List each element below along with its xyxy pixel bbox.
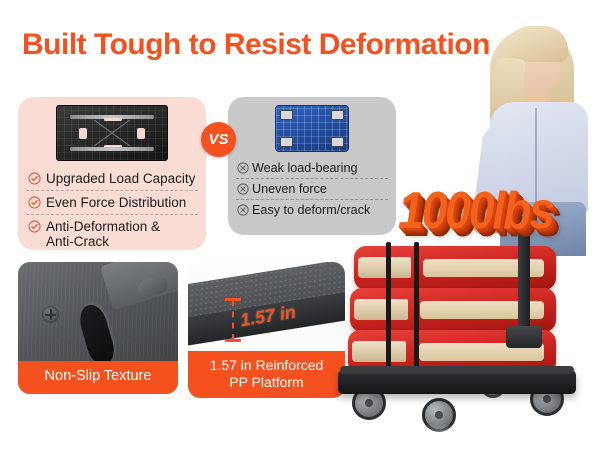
feature-item: Upgraded Load Capacity: [26, 167, 198, 190]
feature-label: Uneven force: [252, 182, 327, 196]
check-circle-icon: [28, 220, 41, 233]
capacity-callout: 1000lbs: [398, 180, 553, 240]
good-feature-list: Upgraded Load Capacity Even Force Distri…: [18, 161, 206, 250]
blue-pallet-icon: [275, 105, 349, 152]
x-circle-icon: [237, 162, 250, 175]
screw-icon: [42, 306, 59, 323]
feature-label: Upgraded Load Capacity: [46, 171, 195, 186]
feature-card-platform: 1.57 in 1.57 in Reinforced PP Platform: [188, 262, 345, 398]
feature-label: Easy to deform/crack: [252, 203, 370, 217]
cart-scene: [330, 222, 600, 450]
x-circle-icon: [237, 204, 250, 217]
feature-item: Even Force Distribution: [26, 190, 198, 214]
cargo-strap: [386, 242, 391, 382]
model-hair-front: [506, 26, 568, 62]
bad-feature-list: Weak load-bearing Uneven force Easy to d…: [228, 152, 396, 224]
cargo-strap: [414, 242, 419, 382]
feature-item: Anti-Deformation & Anti-Crack: [26, 214, 198, 250]
dimension-line: [232, 300, 234, 340]
bad-pallet-image: [228, 97, 396, 152]
black-pallet-icon: [56, 105, 168, 161]
promo-image-root: Built Tough to Resist Deformation: [0, 0, 600, 450]
check-circle-icon: [28, 172, 41, 185]
dimension-cap-bottom: [225, 339, 241, 342]
handle-mount: [506, 326, 542, 348]
cart-deck-lip: [340, 366, 574, 374]
feature-item: Uneven force: [236, 178, 388, 199]
feature-item: Weak load-bearing: [236, 158, 388, 178]
check-circle-icon: [28, 196, 41, 209]
feature-label: Anti-Deformation & Anti-Crack: [46, 219, 160, 249]
good-pallet-image: [18, 97, 206, 161]
feature-card-non-slip: Non-Slip Texture: [18, 262, 178, 394]
card-caption: 1.57 in Reinforced PP Platform: [188, 351, 345, 398]
feature-item: Easy to deform/crack: [236, 199, 388, 220]
page-title: Built Tough to Resist Deformation: [22, 28, 490, 62]
comparison-panel-good: Upgraded Load Capacity Even Force Distri…: [18, 97, 206, 250]
vs-badge: VS: [201, 122, 236, 157]
x-circle-icon: [237, 183, 250, 196]
feature-label: Weak load-bearing: [252, 161, 357, 175]
comparison-panel-bad: Weak load-bearing Uneven force Easy to d…: [228, 97, 396, 235]
feature-label: Even Force Distribution: [46, 195, 186, 210]
card-caption: Non-Slip Texture: [18, 361, 178, 394]
bottom-fade: [0, 424, 600, 450]
